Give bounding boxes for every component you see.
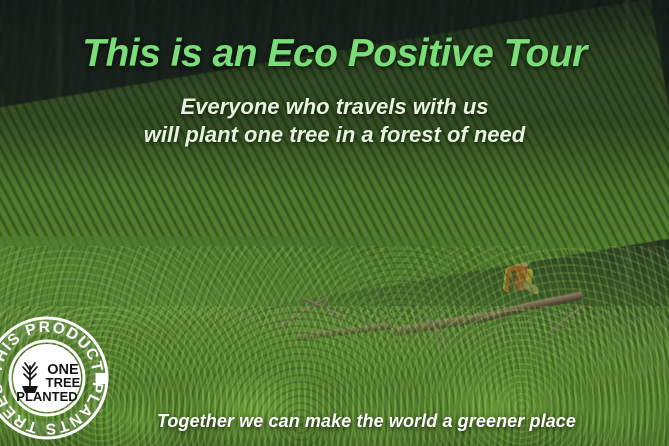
subtitle-line-2: will plant one tree in a forest of need	[0, 121, 669, 149]
one-tree-planted-badge: THIS PRODUCT PLANTS TREES ONE TREE PLANT…	[0, 314, 111, 442]
subtitle-block: Everyone who travels with us will plant …	[0, 93, 669, 149]
badge-center-line-3: PLANTED	[16, 389, 77, 404]
page-title: This is an Eco Positive Tour	[0, 32, 669, 76]
badge-center-line-2: TREE	[46, 375, 81, 390]
eco-positive-tour-poster: This is an Eco Positive Tour Everyone wh…	[0, 0, 669, 446]
subtitle-line-1: Everyone who travels with us	[180, 94, 488, 119]
